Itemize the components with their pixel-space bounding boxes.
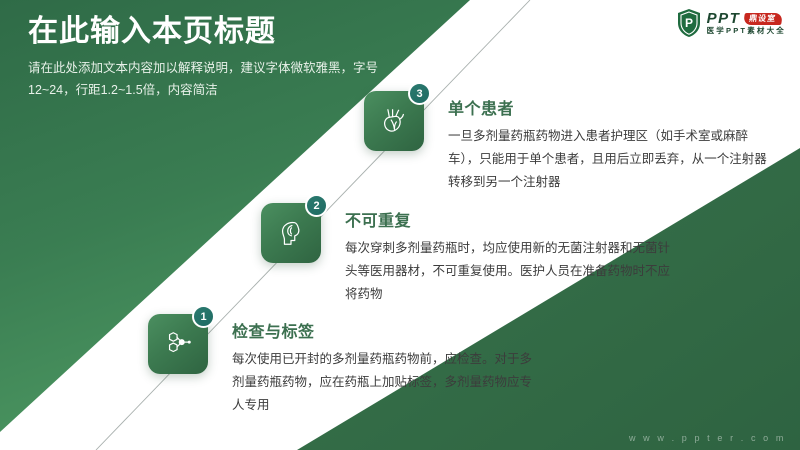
step-title: 不可重复 xyxy=(345,207,677,231)
page-subtitle: 请在此处添加文本内容加以解释说明，建议字体微软雅黑，字号12~24，行距1.2~… xyxy=(28,58,378,102)
page-title: 在此输入本页标题 xyxy=(28,14,378,50)
brand-logo[interactable]: P PPT 鼎设室 医学PPT素材大全 xyxy=(676,8,786,38)
molecule-icon xyxy=(163,329,193,359)
step-description: 每次穿刺多剂量药瓶时，均应使用新的无菌注射器和无菌针头等医用器材，不可重复使用。… xyxy=(345,237,677,306)
step-text-block: 检查与标签 每次使用已开封的多剂量药瓶药物前，应检查。对于多剂量药瓶药物，应在药… xyxy=(232,314,542,417)
step-title: 检查与标签 xyxy=(232,318,542,342)
logo-badge: 鼎设室 xyxy=(743,13,783,25)
head-profile-icon xyxy=(276,218,306,248)
watermark-url: w w w . p p t e r . c o m xyxy=(629,433,786,443)
step-icon-wrapper: 1 xyxy=(148,314,214,380)
step-number-badge: 1 xyxy=(192,305,215,328)
logo-brand-text: PPT xyxy=(707,11,741,26)
slide-header: 在此输入本页标题 请在此处添加文本内容加以解释说明，建议字体微软雅黑，字号12~… xyxy=(28,14,378,102)
svg-text:P: P xyxy=(685,16,693,30)
step-item-2[interactable]: 2 不可重复 每次穿刺多剂量药瓶时，均应使用新的无菌注射器和无菌针头等医用器材，… xyxy=(261,203,677,306)
step-number-badge: 3 xyxy=(408,82,431,105)
step-icon-wrapper: 2 xyxy=(261,203,327,269)
logo-tagline: 医学PPT素材大全 xyxy=(707,27,786,35)
heart-anatomy-icon xyxy=(379,106,409,136)
slide-canvas: 在此输入本页标题 请在此处添加文本内容加以解释说明，建议字体微软雅黑，字号12~… xyxy=(0,0,800,450)
step-icon-wrapper: 3 xyxy=(364,91,430,157)
step-item-3[interactable]: 3 单个患者 一旦多剂量药瓶药物进入患者护理区（如手术室或麻醉车），只能用于单个… xyxy=(364,91,778,194)
step-title: 单个患者 xyxy=(448,95,778,119)
shield-icon: P xyxy=(676,8,702,38)
step-description: 一旦多剂量药瓶药物进入患者护理区（如手术室或麻醉车），只能用于单个患者，且用后立… xyxy=(448,125,778,194)
step-number-badge: 2 xyxy=(305,194,328,217)
step-text-block: 单个患者 一旦多剂量药瓶药物进入患者护理区（如手术室或麻醉车），只能用于单个患者… xyxy=(448,91,778,194)
step-description: 每次使用已开封的多剂量药瓶药物前，应检查。对于多剂量药瓶药物，应在药瓶上加贴标签… xyxy=(232,348,542,417)
step-text-block: 不可重复 每次穿刺多剂量药瓶时，均应使用新的无菌注射器和无菌针头等医用器材，不可… xyxy=(345,203,677,306)
step-item-1[interactable]: 1 检查与标签 每次使用已开封的多剂量药瓶药物前，应检查。对于多剂量药瓶药物，应… xyxy=(148,314,542,417)
